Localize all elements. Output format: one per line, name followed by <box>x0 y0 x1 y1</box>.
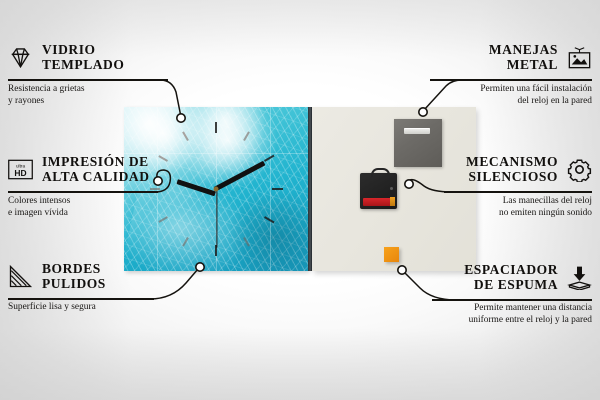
feature-title: IMPRESIÓN DE ALTA CALIDAD <box>42 154 150 184</box>
hanger-slot <box>404 128 430 134</box>
foam-spacer-arrow-icon <box>567 265 592 290</box>
feature-header: MECANISMO SILENCIOSO <box>360 154 592 184</box>
polished-edges-icon <box>8 264 33 289</box>
wall-frame-hanger-icon <box>567 45 592 70</box>
feature-impresion-alta-calidad[interactable]: ultra HD IMPRESIÓN DE ALTA CALIDAD Color… <box>8 154 240 219</box>
feature-header: MANEJAS METAL <box>360 42 592 72</box>
feature-title: MECANISMO SILENCIOSO <box>466 154 558 184</box>
feature-header: VIDRIO TEMPLADO <box>8 42 240 72</box>
feature-vidrio-templado[interactable]: VIDRIO TEMPLADO Resistencia a grietas y … <box>8 42 240 107</box>
feature-description: Las manecillas del reloj no emiten ningú… <box>360 184 592 219</box>
gear-icon <box>567 157 592 182</box>
feature-title: MANEJAS METAL <box>489 42 558 72</box>
feature-bordes-pulidos[interactable]: BORDES PULIDOS Superficie lisa y segura <box>8 261 240 314</box>
feature-header: ultra HD IMPRESIÓN DE ALTA CALIDAD <box>8 154 240 184</box>
feature-header: ESPACIADOR DE ESPUMA <box>360 262 592 292</box>
feature-mecanismo-silencioso[interactable]: MECANISMO SILENCIOSO Las manecillas del … <box>360 154 592 219</box>
infographic-canvas: VIDRIO TEMPLADO Resistencia a grietas y … <box>0 0 600 400</box>
feature-description: Colores intensos e imagen vívida <box>8 184 240 219</box>
feature-title: ESPACIADOR DE ESPUMA <box>464 262 558 292</box>
feature-espaciador-espuma[interactable]: ESPACIADOR DE ESPUMA Permite mantener un… <box>360 262 592 326</box>
feature-manejas-metal[interactable]: MANEJAS METAL Permiten una fácil instala… <box>360 42 592 107</box>
foam-spacer <box>384 247 399 262</box>
ultra-hd-icon: ultra HD <box>8 157 33 182</box>
feature-description: Permite mantener una distancia uniforme … <box>360 292 592 326</box>
feature-title: BORDES PULIDOS <box>42 261 106 291</box>
feature-header: BORDES PULIDOS <box>8 261 240 291</box>
feature-description: Resistencia a grietas y rayones <box>8 72 240 107</box>
svg-text:HD: HD <box>14 168 26 178</box>
diamond-icon <box>8 45 33 70</box>
feature-description: Permiten una fácil instalación del reloj… <box>360 72 592 107</box>
feature-description: Superficie lisa y segura <box>8 291 240 314</box>
feature-title: VIDRIO TEMPLADO <box>42 42 124 72</box>
